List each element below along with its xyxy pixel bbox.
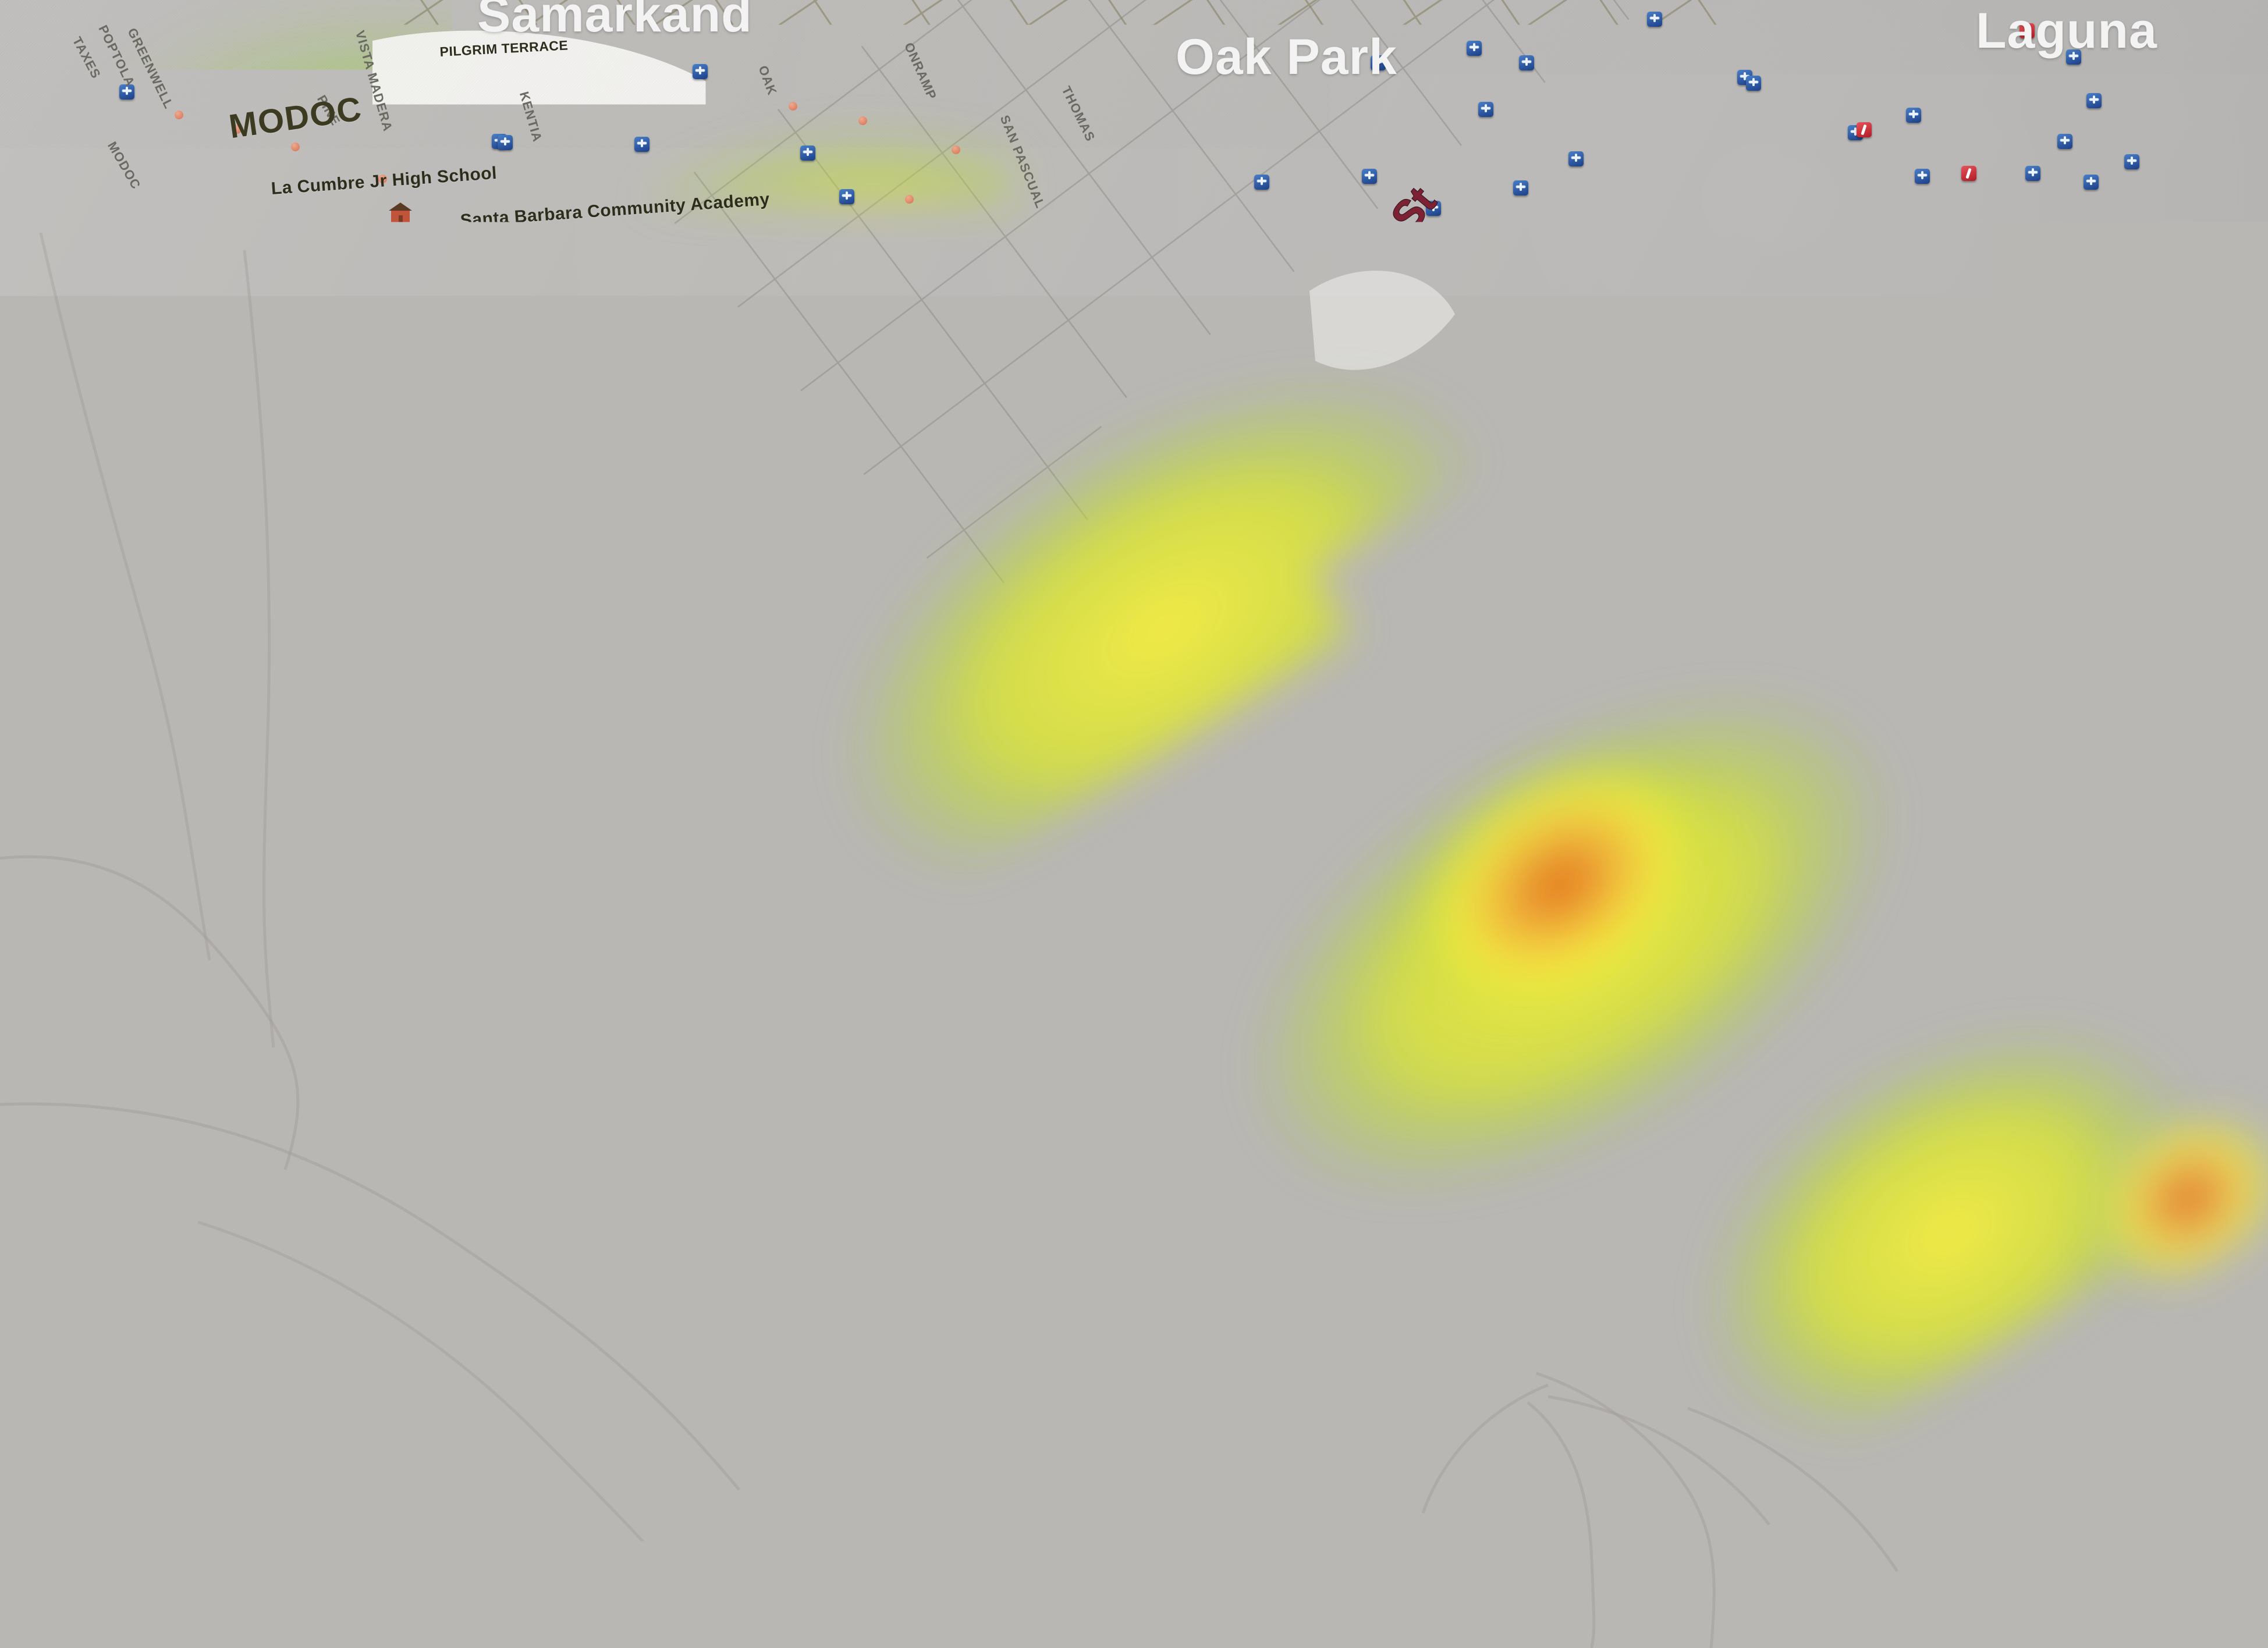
- legend-row-micheltorena: Micheltorena St - Bike Corridor thru San…: [428, 1047, 1749, 1089]
- legend: Micheltorena St - Bike Corridor thru San…: [428, 1047, 1749, 1257]
- corridor-street-label: Micheltorena St: [1211, 180, 1443, 446]
- title-line-2: (2014-2018): [418, 1473, 1176, 1594]
- legend-desc-micheltorena-2: Collision Hot Spot UNSAFE for ALL road u…: [428, 1095, 1230, 1135]
- legend-desc-arrellaga: - (Gap closure) SAFE Route to Westside S…: [630, 1155, 1448, 1194]
- legend-row-arrellaga: Arrellaga St - (Gap closure) SAFE Route …: [434, 1155, 1749, 1195]
- legend-row-sola: Sola St - Safe Route To School(s) on Eas…: [438, 1212, 1749, 1251]
- title-card: 5 Year Collisions (2014-2018): [417, 1316, 1176, 1648]
- legend-desc-sola: - Safe Route To School(s) on Eastside: [553, 1213, 1169, 1251]
- collision-heat-map: TAXESPOPTOLAGREENWELLPORTOLAPINEVISTA MA…: [0, 0, 2268, 1648]
- santa-barbara-seal-icon: SEAL OF THE CITY OF SANTA BARBARA CALIFO…: [17, 1496, 162, 1642]
- legend-name-arrellaga: Arrellaga St: [434, 1155, 630, 1194]
- corridor-street-label: Arrellaga St: [908, 529, 1050, 690]
- legend-name-sola: Sola St: [438, 1213, 553, 1251]
- city-seal: SEAL OF THE CITY OF SANTA BARBARA CALIFO…: [10, 1490, 169, 1648]
- corridor-street-label: Sola St: [1426, 320, 1518, 422]
- legend-row-micheltorena-2: Collision Hot Spot UNSAFE for ALL road u…: [428, 1095, 1749, 1136]
- title-line-1: 5 Year Collisions: [417, 1340, 1174, 1460]
- legend-name-micheltorena: Micheltorena St: [428, 1048, 697, 1088]
- legend-desc-micheltorena: - Bike Corridor thru San Andres: [697, 1048, 1249, 1088]
